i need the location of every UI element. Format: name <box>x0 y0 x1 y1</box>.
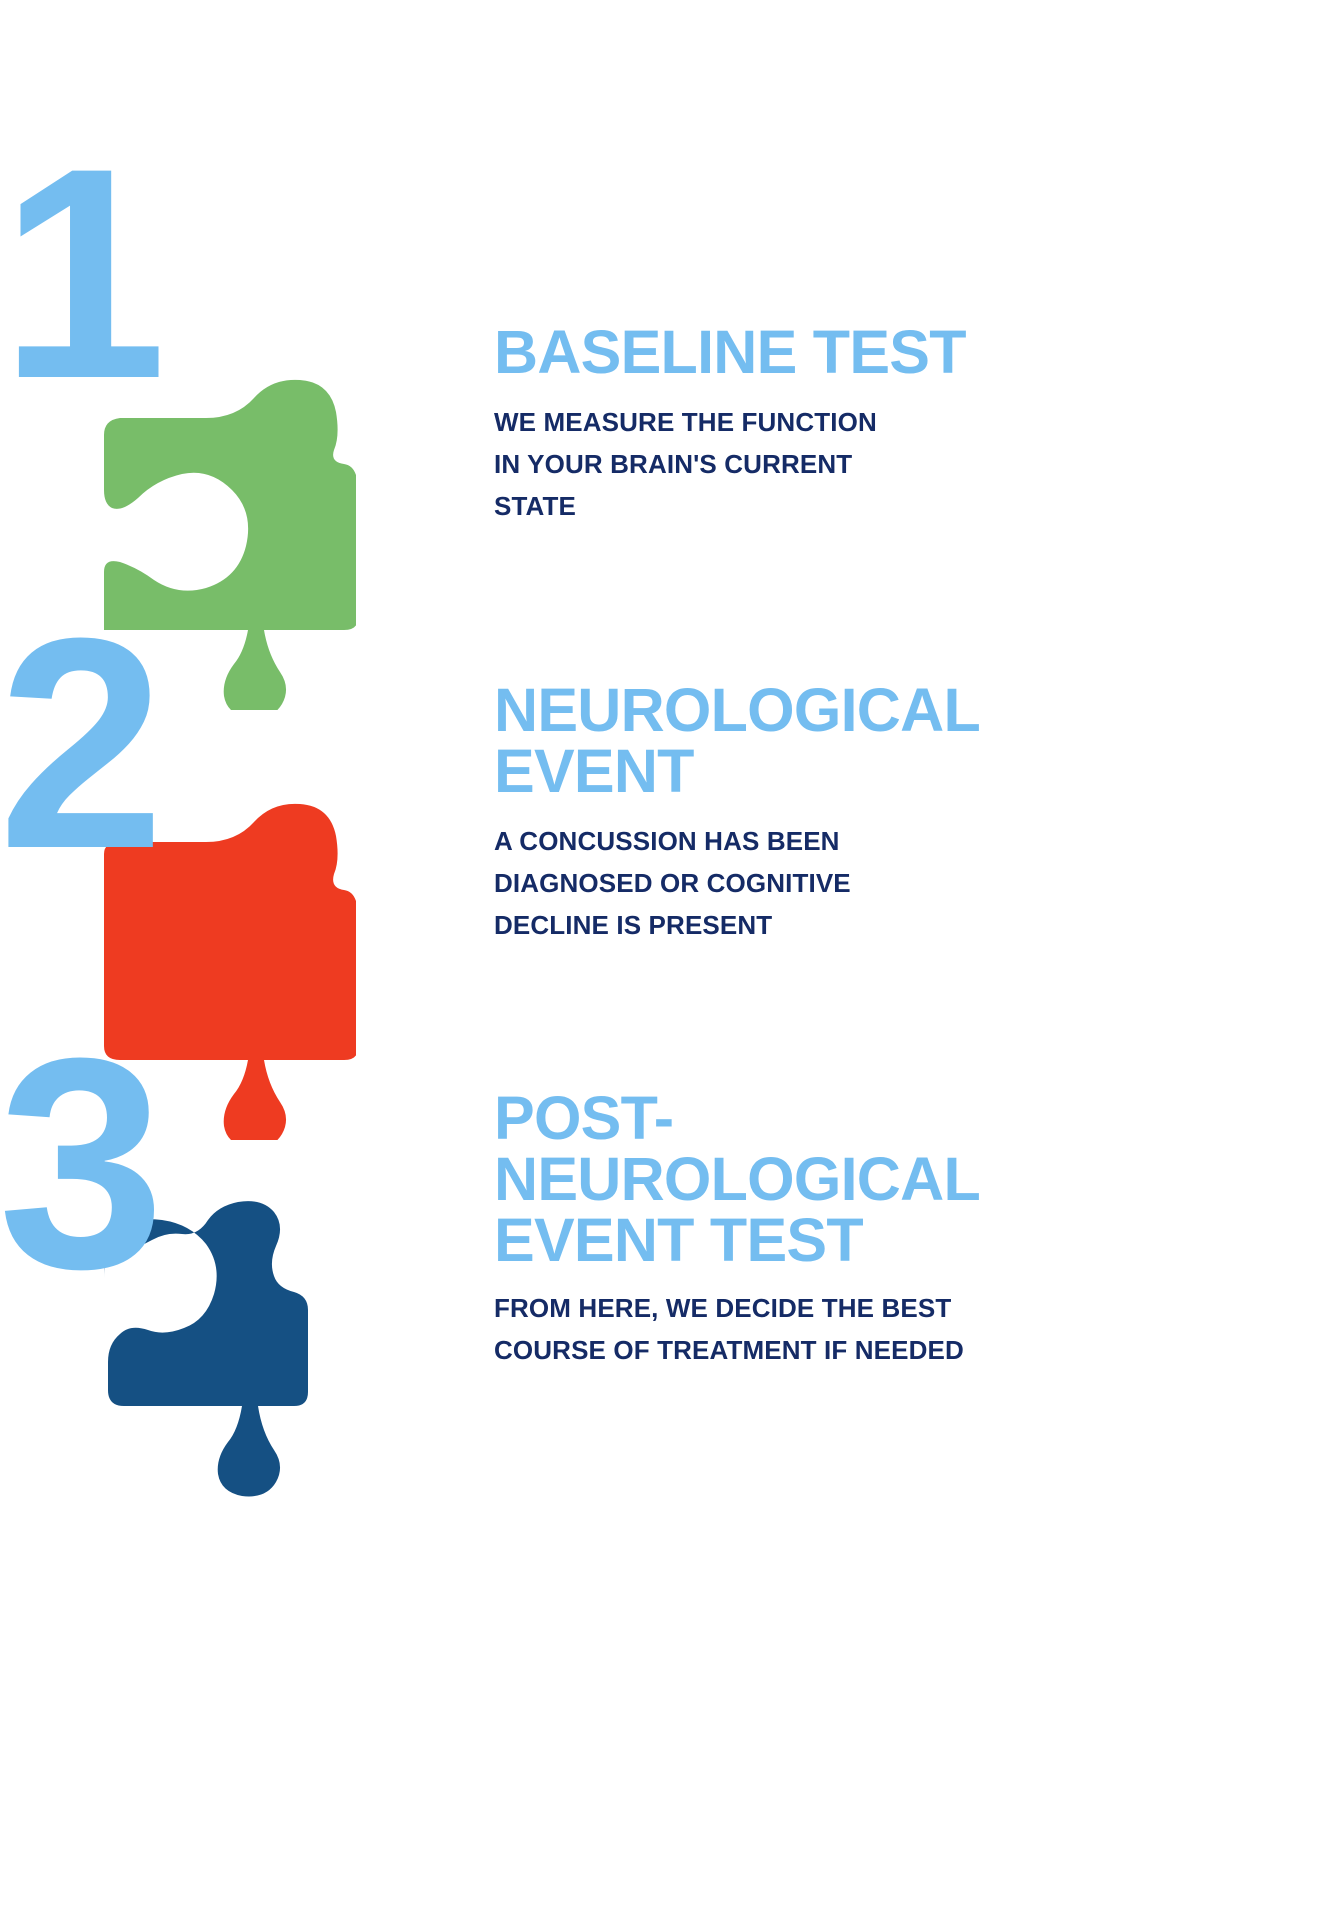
step-3-artwork: 3 <box>0 1040 400 1500</box>
step-3-number: 3 <box>0 1046 156 1280</box>
step-3: 3 POST- NEUROLOGICAL EVENT TEST FROM HER… <box>0 1040 1344 1520</box>
step-1-copy: BASELINE TEST WE MEASURE THE FUNCTION IN… <box>494 322 1074 527</box>
step-1-description: WE MEASURE THE FUNCTION IN YOUR BRAIN'S … <box>494 401 1074 527</box>
step-2-description: A CONCUSSION HAS BEEN DIAGNOSED OR COGNI… <box>494 820 1074 946</box>
step-1-heading: BASELINE TEST <box>494 322 1074 383</box>
step-2-copy: NEUROLOGICAL EVENT A CONCUSSION HAS BEEN… <box>494 680 1074 946</box>
step-1: 1 BASELINE TEST WE MEASURE THE FUNCTION … <box>0 150 1344 700</box>
step-3-description: FROM HERE, WE DECIDE THE BEST COURSE OF … <box>494 1287 1074 1371</box>
infographic-root: 1 BASELINE TEST WE MEASURE THE FUNCTION … <box>0 0 1344 1920</box>
step-1-artwork: 1 <box>0 150 400 610</box>
step-2-heading: NEUROLOGICAL EVENT <box>494 680 1074 802</box>
step-1-number: 1 <box>0 156 158 390</box>
step-3-copy: POST- NEUROLOGICAL EVENT TEST FROM HERE,… <box>494 1088 1074 1371</box>
step-3-heading: POST- NEUROLOGICAL EVENT TEST <box>494 1088 1074 1271</box>
step-2-number: 2 <box>0 626 156 860</box>
